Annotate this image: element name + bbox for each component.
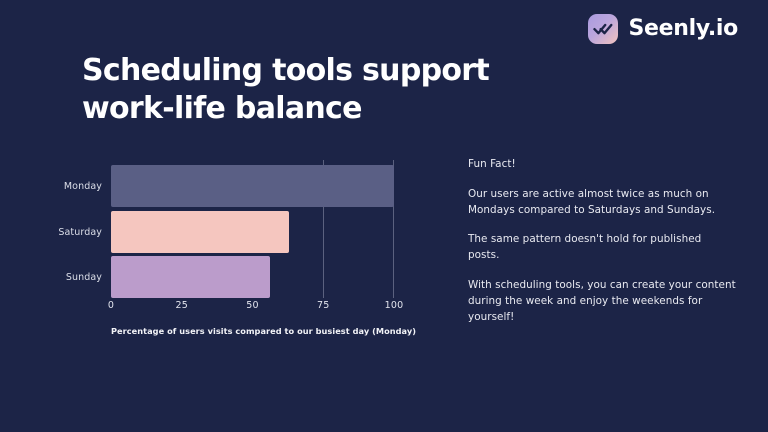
x-tick-25: 25 bbox=[176, 300, 189, 311]
bar-row-monday[interactable]: Monday bbox=[111, 165, 394, 207]
bar-label-monday: Monday bbox=[64, 181, 102, 192]
x-tick-75: 75 bbox=[317, 300, 330, 311]
brand-logo[interactable]: Seenly.io bbox=[588, 14, 738, 44]
bar-row-sunday[interactable]: Sunday bbox=[111, 256, 394, 298]
bar-sunday[interactable] bbox=[111, 256, 270, 298]
chart-plot-area: Monday Saturday Sunday bbox=[111, 160, 394, 298]
bar-chart: Monday Saturday Sunday 0 25 50 75 100 Pe… bbox=[48, 160, 418, 336]
x-tick-0: 0 bbox=[108, 300, 114, 311]
bar-label-saturday: Saturday bbox=[58, 227, 102, 238]
bar-monday[interactable] bbox=[111, 165, 394, 207]
x-tick-50: 50 bbox=[246, 300, 259, 311]
bar-row-saturday[interactable]: Saturday bbox=[111, 211, 394, 253]
x-axis-caption: Percentage of users visits compared to o… bbox=[111, 326, 418, 336]
fun-fact-heading: Fun Fact! bbox=[468, 157, 736, 173]
page-title: Scheduling tools support work-life balan… bbox=[82, 52, 542, 128]
bar-label-sunday: Sunday bbox=[66, 272, 102, 283]
x-tick-100: 100 bbox=[385, 300, 404, 311]
double-check-icon bbox=[588, 14, 618, 44]
bar-saturday[interactable] bbox=[111, 211, 289, 253]
fun-fact-panel: Fun Fact! Our users are active almost tw… bbox=[468, 157, 736, 326]
brand-name: Seenly.io bbox=[628, 18, 738, 40]
fun-fact-paragraph-3: With scheduling tools, you can create yo… bbox=[468, 278, 736, 325]
x-axis: 0 25 50 75 100 bbox=[111, 298, 394, 316]
fun-fact-paragraph-2: The same pattern doesn't hold for publis… bbox=[468, 232, 736, 264]
fun-fact-paragraph-1: Our users are active almost twice as muc… bbox=[468, 187, 736, 219]
